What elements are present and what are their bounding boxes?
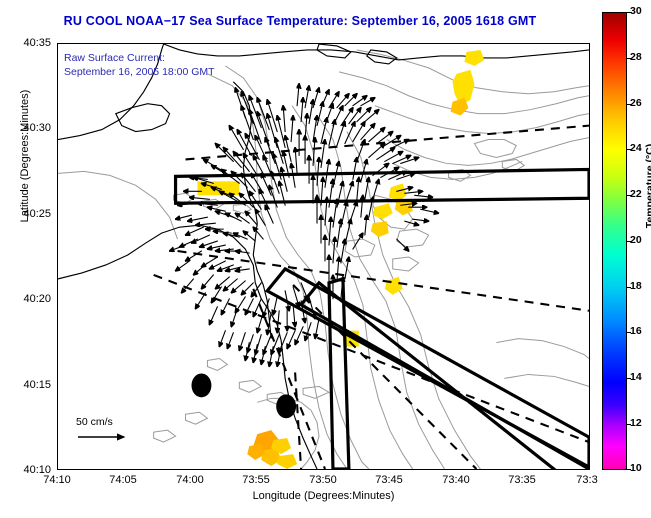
x-tick-label-7: 73:35 [492, 474, 552, 486]
colorbar [602, 12, 627, 470]
surface-current-vectors [170, 84, 439, 367]
colorbar-tick-9: 12 [630, 417, 650, 429]
colorbar-tick-8: 14 [630, 371, 650, 383]
bathymetry-contours [58, 50, 589, 469]
vector-scale-label: 50 cm/s [76, 416, 138, 428]
x-tick-label-5: 73:45 [359, 474, 419, 486]
colorbar-tick-6: 18 [630, 280, 650, 292]
map-plot-area[interactable]: Raw Surface Current: September 16, 2005 … [57, 43, 590, 470]
y-tick-label-2: 40:25 [3, 208, 51, 220]
colorbar-tick-7: 16 [630, 325, 650, 337]
x-tick-label-3: 73:55 [226, 474, 286, 486]
vector-scale-arrow-icon [76, 428, 138, 446]
colorbar-tick-1: 28 [630, 51, 650, 63]
map-canvas [58, 44, 589, 469]
x-axis-title: Longitude (Degrees:Minutes) [57, 490, 590, 502]
sst-map-figure: RU COOL NOAA−17 Sea Surface Temperature:… [0, 0, 651, 518]
colorbar-tick-0: 30 [630, 5, 650, 17]
radar-station-markers [191, 373, 296, 418]
colorbar-tick-10: 10 [630, 462, 650, 474]
coastline [58, 44, 589, 469]
x-tick-label-0: 74:10 [27, 474, 87, 486]
vector-scale-legend: 50 cm/s [76, 416, 138, 451]
y-tick-label-3: 40:20 [3, 293, 51, 305]
y-tick-label-1: 40:30 [3, 122, 51, 134]
annotation-line-1: Raw Surface Current: [64, 51, 215, 65]
x-tick-label-1: 74:05 [93, 474, 153, 486]
colorbar-tick-2: 26 [630, 97, 650, 109]
colorbar-title: Temperature (°C) [644, 121, 651, 251]
x-tick-label-4: 73:50 [293, 474, 353, 486]
x-tick-label-6: 73:40 [426, 474, 486, 486]
map-annotation: Raw Surface Current: September 16, 2005 … [64, 51, 215, 79]
x-tick-label-2: 74:00 [160, 474, 220, 486]
x-tick-label-8: 73:3 [557, 474, 617, 486]
y-tick-label-4: 40:15 [3, 379, 51, 391]
y-tick-label-0: 40:35 [3, 37, 51, 49]
figure-title: RU COOL NOAA−17 Sea Surface Temperature:… [0, 14, 600, 28]
annotation-line-2: September 16, 2005 18:00 GMT [64, 65, 215, 79]
